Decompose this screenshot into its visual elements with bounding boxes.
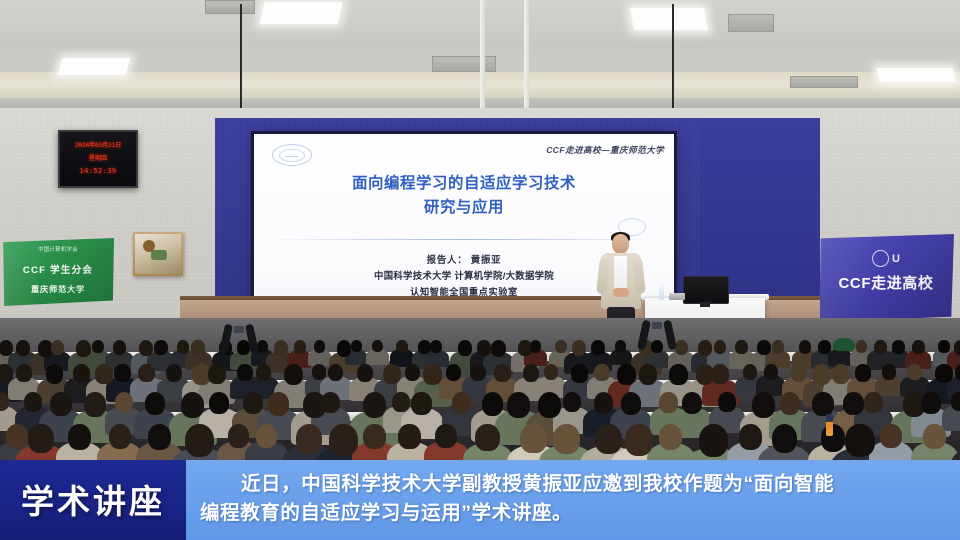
caption-badge-label: 学术讲座 <box>21 475 165 523</box>
audience-person-head <box>92 340 104 353</box>
banner-green-line1: CCF 学生分会 <box>2 262 114 276</box>
audience-person-head <box>314 340 325 353</box>
audience-person-head <box>711 364 729 384</box>
audience-person-head <box>257 340 268 353</box>
audience-person-head <box>446 364 461 381</box>
audience-person-head <box>938 340 949 353</box>
slide-header: CCF走进高校—重庆师范大学 <box>546 144 664 156</box>
audience-person-head <box>185 424 214 457</box>
audience-person-head <box>50 392 72 416</box>
audience-person-head <box>530 340 541 353</box>
audience-person-head <box>818 340 831 354</box>
ceiling-light-panel <box>877 68 956 82</box>
audience-person-head <box>698 340 712 356</box>
audience-person-head <box>268 392 289 416</box>
audience-person-head <box>312 364 326 380</box>
banner-ccf-student-chapter: 中国计算机学会 CCF 学生分会 重庆师范大学 <box>2 238 114 306</box>
audience-person-head <box>28 424 54 453</box>
audience-person-head <box>46 364 63 384</box>
audience-person-head <box>154 340 167 355</box>
audience-person-head <box>458 340 472 356</box>
audience-person-head <box>907 364 921 380</box>
audience-person-head <box>954 340 960 355</box>
audience-person-head <box>138 364 154 382</box>
caption-line-2: 编程教育的自适应学习与运用”学术讲座。 <box>200 499 948 528</box>
led-time: 14:52:39 <box>60 167 136 175</box>
laptop-icon <box>669 293 685 300</box>
led-weekday: 星期四 <box>60 153 136 162</box>
audience-person-head <box>470 364 485 381</box>
audience-person-head <box>799 340 812 354</box>
audience-person-head <box>735 340 748 354</box>
audience-person-head <box>166 364 182 382</box>
audience-person-head <box>208 364 226 384</box>
audience-person-head <box>874 340 887 354</box>
audience-person-head <box>572 340 587 356</box>
audience-area <box>0 318 960 460</box>
screenshot-root: 2024年03月21日 星期四 14:52:39 中国计算机学会 CCF 学生分… <box>0 0 960 540</box>
slide-divider <box>280 239 648 240</box>
audience-person-head <box>880 424 902 448</box>
led-clock-display: 2024年03月21日 星期四 14:52:39 <box>58 130 138 188</box>
audience-person-head <box>923 424 946 449</box>
audience-person-head <box>882 364 896 380</box>
audience-person-head <box>256 424 277 448</box>
audience-person-head <box>411 392 432 415</box>
audience-person-head <box>337 340 352 357</box>
audience-person-head <box>477 340 491 356</box>
audience-person-head <box>95 364 113 384</box>
audience-person-head <box>84 392 106 417</box>
monitor-stand <box>700 302 710 307</box>
audience-person-head <box>113 340 127 355</box>
audience-person-head <box>321 392 340 413</box>
audience-person-head <box>843 392 864 415</box>
audience-person-head <box>296 424 322 454</box>
audience-person-head <box>544 364 559 380</box>
audience-person-head <box>109 424 132 449</box>
audience-person-head <box>772 340 784 354</box>
audience-person-head <box>6 424 28 449</box>
ceiling-vent <box>790 76 858 88</box>
audience-person-head <box>351 340 362 352</box>
audience-person-head <box>523 364 539 382</box>
audience-person-head <box>0 364 13 382</box>
audience-person-head <box>669 364 687 385</box>
audience-person-head <box>935 364 952 383</box>
audience-person-head <box>739 424 762 450</box>
audience-person-head <box>274 340 288 356</box>
slide-title-line1: 面向编程学习的自适应学习技术 <box>254 172 674 196</box>
audience-person-head <box>363 424 385 449</box>
audience-person-head <box>757 340 771 355</box>
audience-person-head <box>772 424 798 453</box>
audience-person-head <box>812 392 834 416</box>
audience-person-head <box>145 392 165 415</box>
phone-icon <box>652 322 662 329</box>
audience-person-head <box>383 364 401 384</box>
monitor-icon <box>683 276 729 304</box>
audience-person-head <box>423 364 442 385</box>
audience-person-head <box>625 424 653 456</box>
audience-person-head <box>675 340 688 355</box>
audience-person-head <box>617 364 636 385</box>
audience-person-head <box>594 392 614 414</box>
audience-person-head <box>845 424 875 457</box>
audience-person-head <box>405 364 420 381</box>
audience-person-head <box>892 340 904 354</box>
ustc-oval-logo-icon <box>270 140 312 168</box>
banner-blue-logo: U <box>872 250 900 267</box>
audience-raised-arm <box>663 319 677 350</box>
banner-green-line2: 重庆师范大学 <box>2 283 114 295</box>
phone-icon <box>234 326 244 333</box>
audience-person-head <box>764 364 778 380</box>
green-cap-icon <box>833 338 855 351</box>
banner-blue-text: CCF走进高校 <box>818 272 954 293</box>
slide-title: 面向编程学习的自适应学习技术 研究与应用 <box>254 172 674 220</box>
audience-person-head <box>68 424 91 450</box>
audience-person-head <box>0 340 13 356</box>
audience-person-head <box>507 392 530 418</box>
audience-person-head <box>864 392 883 413</box>
audience-person-head <box>659 392 678 413</box>
audience-person-head <box>475 424 499 451</box>
audience-person-head <box>73 364 90 383</box>
audience-person-head <box>538 392 561 418</box>
audience-person-head <box>621 392 641 415</box>
audience-person-head <box>912 340 925 354</box>
audience-person-head <box>595 424 622 454</box>
audience-person-head <box>139 340 154 356</box>
audience-person-head <box>398 424 420 449</box>
audience-person-head <box>294 340 306 354</box>
audience-person-head <box>714 340 727 354</box>
audience-person-head <box>743 364 757 380</box>
water-bottle-icon <box>659 284 664 300</box>
audience-person-head <box>639 364 657 385</box>
audience-person-head <box>243 392 263 414</box>
audience-person-head <box>435 424 457 448</box>
audience-person-head <box>76 340 91 357</box>
wall-picture-image <box>135 234 181 274</box>
audience-person-head <box>752 392 775 418</box>
audience-person-head <box>191 340 204 355</box>
audience-person-head <box>418 340 430 354</box>
audience-person-head <box>24 392 42 412</box>
audience-person-head <box>16 340 30 356</box>
audience-person-head <box>555 340 567 353</box>
audience-person-head <box>209 392 229 414</box>
audience-person-head <box>856 340 867 353</box>
ceiling-light-panel <box>260 2 343 24</box>
picture-shape-b <box>151 250 167 260</box>
audience-person-head <box>392 392 410 412</box>
university-seal-icon <box>872 250 889 267</box>
audience-person-head <box>921 392 941 414</box>
audience-person-head <box>396 340 408 353</box>
audience-person-head <box>237 364 252 381</box>
banner-ccf-campus-tour: U CCF走进高校 <box>818 234 954 322</box>
ceiling-vent <box>728 14 774 32</box>
audience-person-head <box>284 364 303 385</box>
audience-person-head <box>372 340 383 352</box>
audience-person-head <box>780 392 801 415</box>
caption-badge: 学术讲座 <box>0 458 186 540</box>
audience-person-head <box>951 392 960 411</box>
led-date: 2024年03月21日 <box>60 140 136 149</box>
audience-person-head <box>563 392 581 412</box>
banner-blue-logo-letter: U <box>892 253 900 265</box>
audience-person-head <box>363 392 387 418</box>
caption-line-1: 近日，中国科学技术大学副教授黄振亚应邀到我校作题为“面向智能 <box>200 470 948 499</box>
caption-text: 近日，中国科学技术大学副教授黄振亚应邀到我校作题为“面向智能 编程教育的自适应学… <box>200 470 948 528</box>
audience-person-head <box>181 392 204 418</box>
audience-person-head <box>682 392 702 414</box>
audience-person-head <box>699 424 729 457</box>
ceiling-light-panel <box>58 58 131 75</box>
audience-person-head <box>256 364 271 381</box>
ceiling-vent <box>432 56 496 72</box>
audience-person-head <box>651 340 663 353</box>
audience-person-head <box>16 364 32 382</box>
audience-person-head <box>228 424 249 448</box>
audience-person-head <box>491 340 506 357</box>
audience-person-head <box>832 364 850 384</box>
audience-person-head <box>114 364 130 382</box>
audience-person-head <box>855 364 871 382</box>
audience-person-head <box>328 364 344 381</box>
audience-person-head <box>812 364 831 385</box>
drink-bottle-icon <box>826 414 833 436</box>
audience-person-head <box>594 364 609 381</box>
audience-person-head <box>791 364 807 382</box>
audience-person-head <box>659 424 682 450</box>
audience-person-head <box>591 340 605 355</box>
audience-person-head <box>329 424 358 456</box>
audience-person-head <box>452 392 471 414</box>
audience-person-head <box>357 364 373 382</box>
audience-person-head <box>51 340 65 355</box>
wall-picture-frame <box>133 232 183 276</box>
audience-person-head <box>115 392 134 413</box>
audience-person-head <box>494 364 510 382</box>
banner-green-org: 中国计算机学会 <box>2 245 114 253</box>
audience-person-head <box>718 392 736 412</box>
audience-person-head <box>571 364 588 383</box>
audience-person-head <box>177 340 189 354</box>
audience-person-head <box>520 424 546 453</box>
audience-person-head <box>148 424 171 450</box>
slide-title-line2: 研究与应用 <box>254 196 674 220</box>
audience-person-head <box>553 424 580 454</box>
audience-person-head <box>482 392 504 416</box>
